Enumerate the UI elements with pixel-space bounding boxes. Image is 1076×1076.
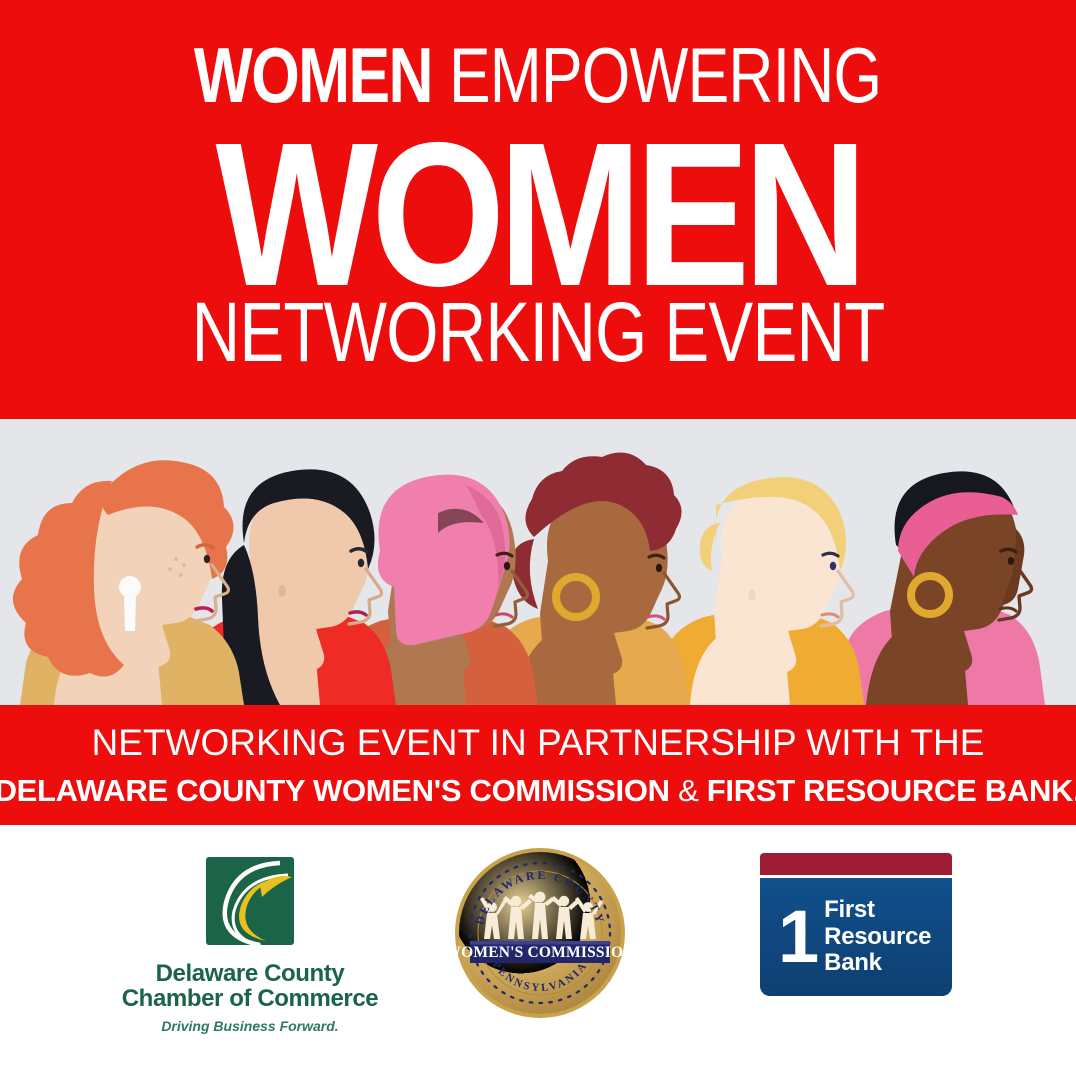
sponsor-logo-strip: Delaware County Chamber of Commerce Driv… <box>0 825 1076 1076</box>
chamber-logo-mark <box>202 855 298 951</box>
bank-word-resource: Resource <box>824 924 931 951</box>
partnership-banner: NETWORKING EVENT IN PARTNERSHIP WITH THE… <box>0 705 1076 825</box>
partner-ampersand: & <box>678 773 698 808</box>
chamber-name-line-2: Chamber of Commerce <box>105 986 395 1011</box>
bank-numeral-one: 1 <box>778 907 819 966</box>
seal-band-text: WOMEN'S COMMISSION <box>452 944 628 961</box>
illustration-svg <box>0 419 1076 705</box>
chamber-tagline: Driving Business Forward. <box>105 1018 395 1034</box>
banner-line-1: NETWORKING EVENT IN PARTNERSHIP WITH THE <box>92 722 985 764</box>
logo-first-resource-bank[interactable]: 1 First Resource Bank <box>760 853 952 996</box>
banner-line-2: DELAWARE COUNTY WOMEN'S COMMISSION & FIR… <box>0 773 1076 809</box>
title-networking-event: NETWORKING EVENT <box>192 290 885 374</box>
partner-womens-commission: DELAWARE COUNTY WOMEN'S COMMISSION <box>0 773 670 808</box>
bank-top-bar <box>760 853 952 875</box>
bank-wordmark: First Resource Bank <box>824 897 931 978</box>
partner-first-resource-bank: FIRST RESOURCE BANK. <box>707 773 1076 808</box>
women-illustration <box>0 419 1076 705</box>
logo-womens-commission-seal[interactable]: WOMEN'S COMMISSION DELAWARE COUNTY PENNS… <box>452 845 628 1021</box>
bank-word-bank: Bank <box>824 950 931 977</box>
bank-logo-body: 1 First Resource Bank <box>760 878 952 996</box>
chamber-name-line-1: Delaware County <box>105 961 395 986</box>
chamber-name: Delaware County Chamber of Commerce <box>105 961 395 1011</box>
title-banner: WOMEN EMPOWERING WOMEN NETWORKING EVENT <box>0 0 1076 419</box>
logo-delaware-county-chamber[interactable]: Delaware County Chamber of Commerce Driv… <box>105 855 395 1034</box>
bank-word-first: First <box>824 897 931 924</box>
title-line-3: NETWORKING EVENT <box>0 290 1076 374</box>
event-flyer: WOMEN EMPOWERING WOMEN NETWORKING EVENT <box>0 0 1076 1076</box>
